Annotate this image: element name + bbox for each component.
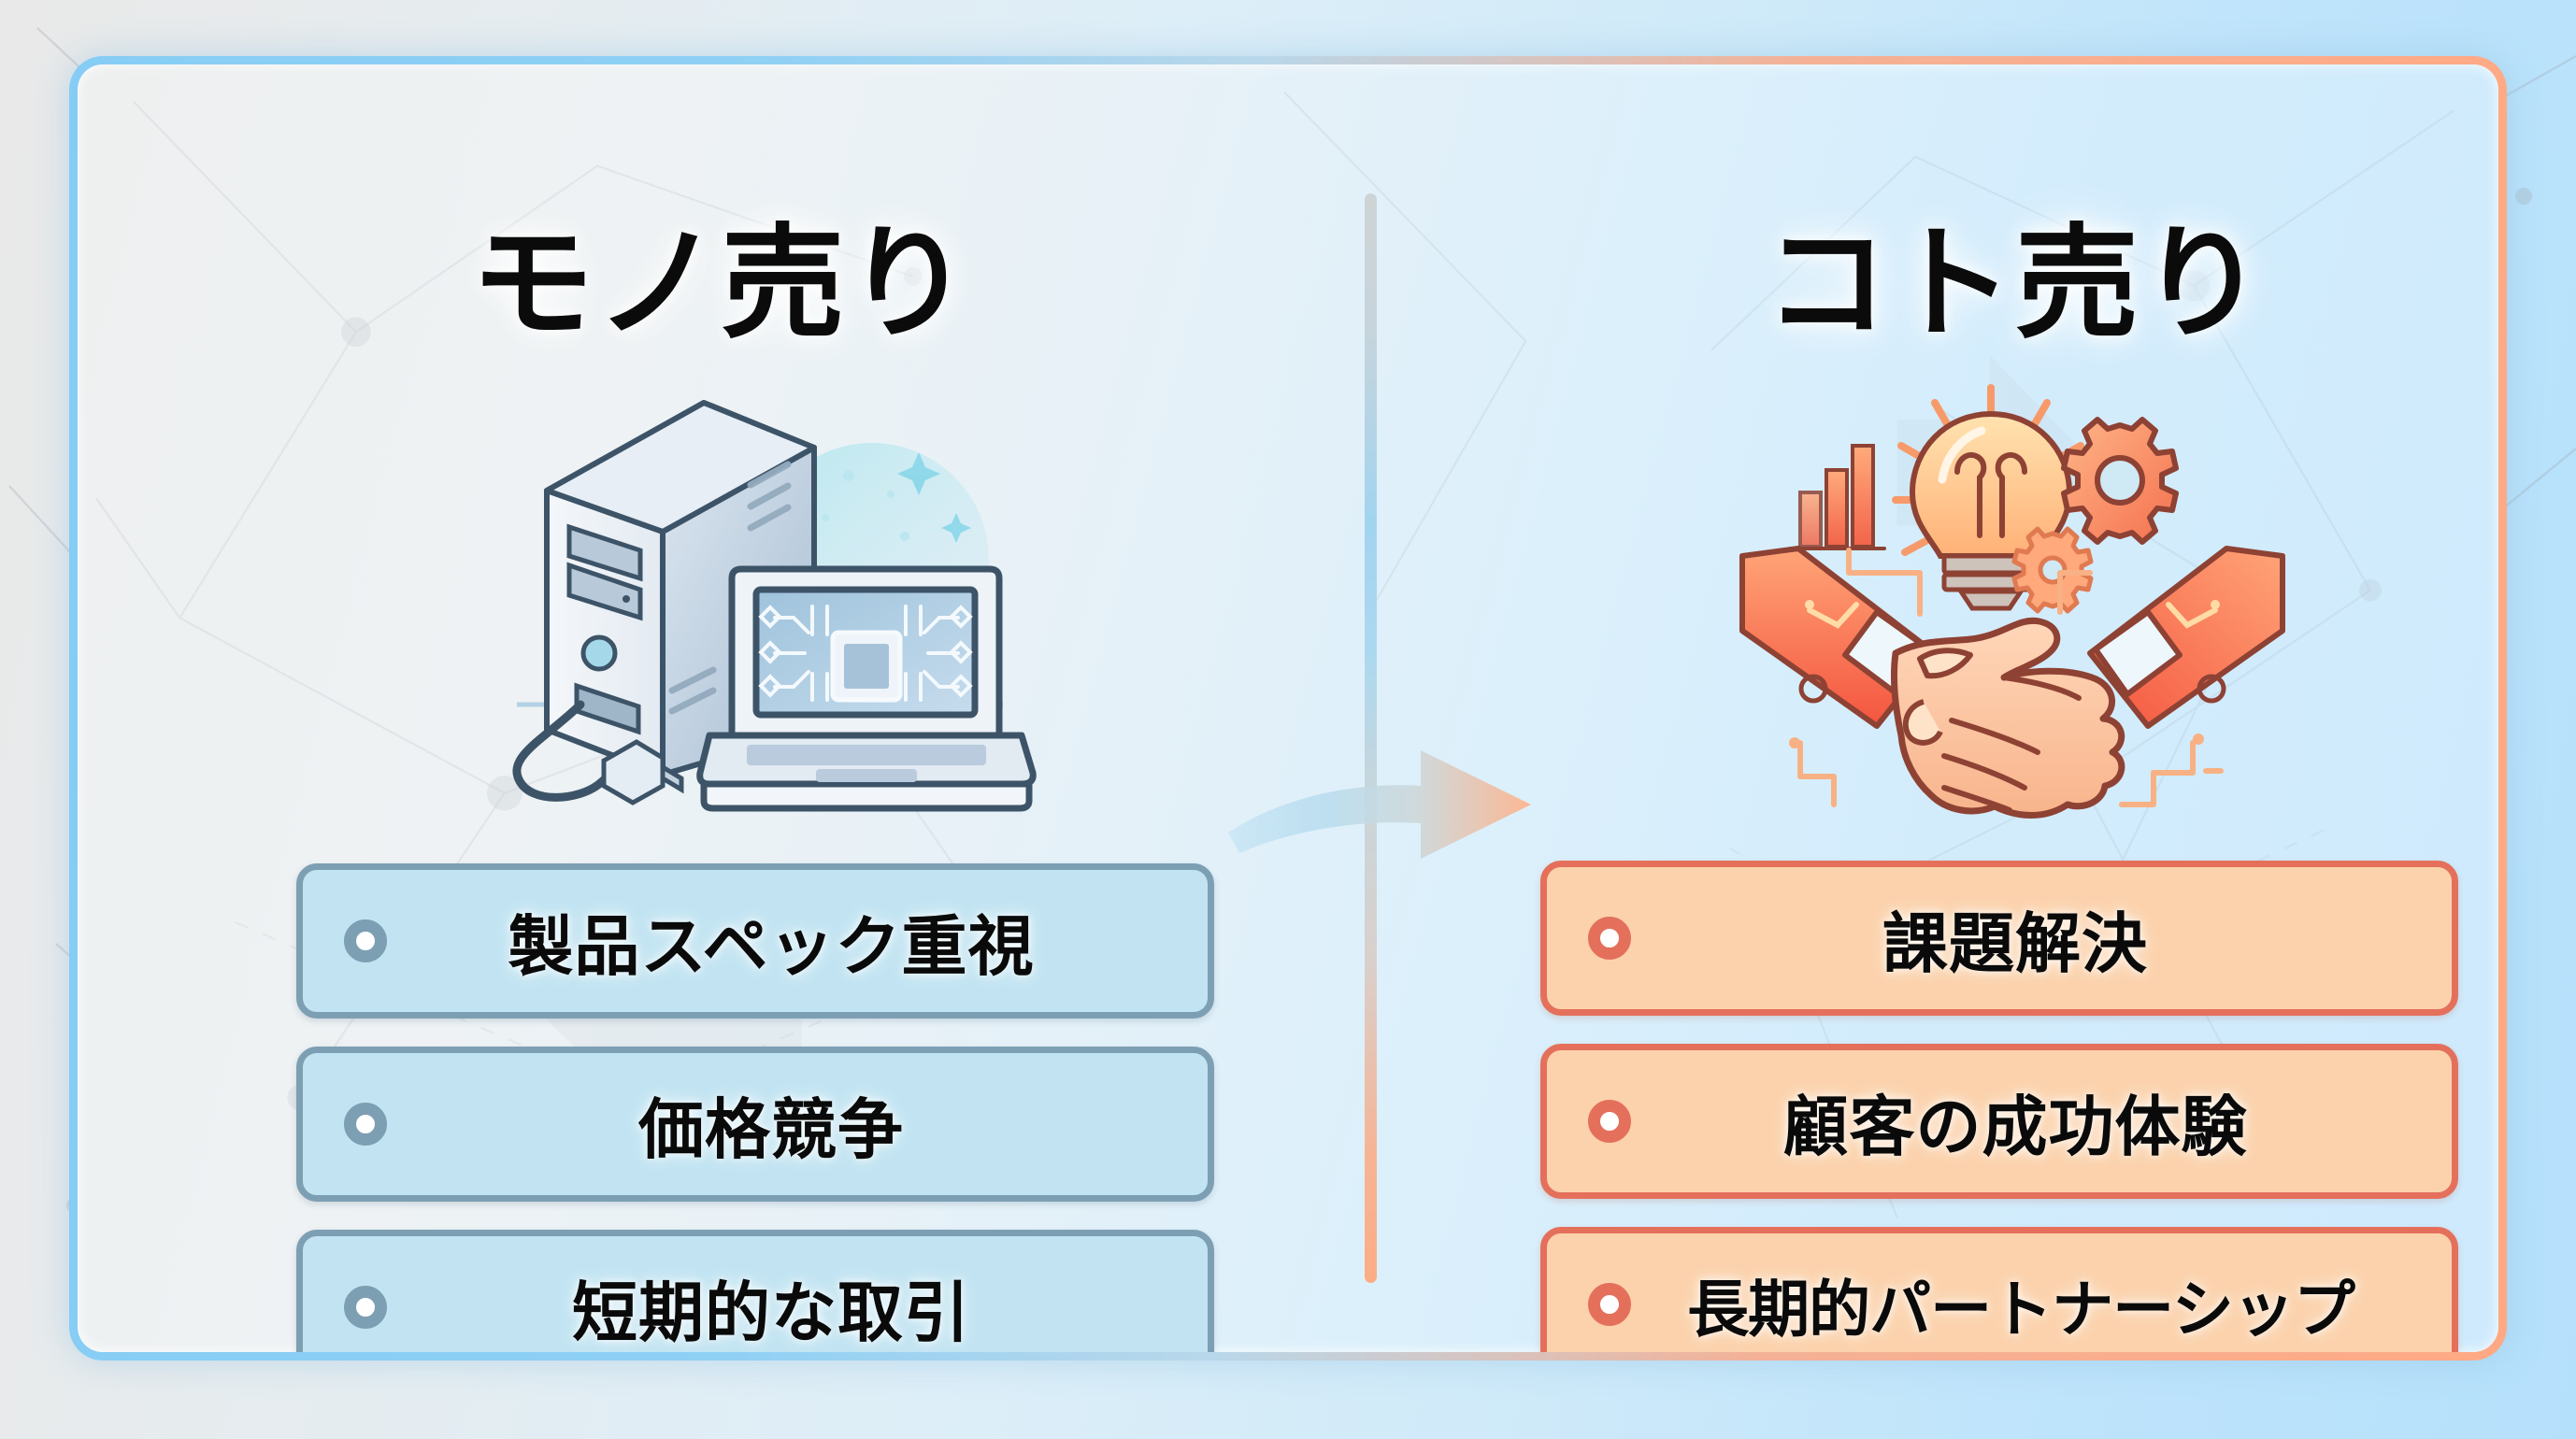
- list-item-label: 製品スペック重視: [476, 894, 1034, 989]
- list-item[interactable]: 製品スペック重視: [296, 863, 1214, 1019]
- list-item[interactable]: 価格競争: [296, 1047, 1214, 1202]
- right-feature-list: 課題解決 顧客の成功体験 長期的パートナーシップ: [1540, 861, 2458, 1361]
- list-item-label: 課題解決: [1851, 891, 2148, 986]
- bullet-icon: [344, 919, 387, 962]
- list-item[interactable]: 長期的パートナーシップ: [1540, 1227, 2458, 1361]
- left-feature-list: 製品スペック重視 価格競争 短期的な取引: [296, 863, 1214, 1361]
- infographic-canvas: モノ売り コト売り: [0, 0, 2576, 1439]
- list-item-label: 短期的な取引: [540, 1261, 970, 1355]
- bullet-icon: [344, 1286, 387, 1329]
- right-column-title: コト売り: [1377, 184, 2507, 363]
- bullet-icon: [344, 1103, 387, 1146]
- left-column-title: モノ売り: [78, 184, 1365, 363]
- list-item-label: 顧客の成功体験: [1752, 1075, 2248, 1169]
- bullet-icon: [1588, 917, 1631, 960]
- list-item[interactable]: 短期的な取引: [296, 1230, 1214, 1361]
- handshake-lightbulb-gears-chart-icon: [1737, 373, 2288, 831]
- desktop-computer-and-laptop-icon: [479, 382, 1040, 821]
- list-item-label: 長期的パートナーシップ: [1644, 1260, 2354, 1349]
- content-frame: モノ売り コト売り: [69, 56, 2507, 1361]
- list-item-label: 価格競争: [607, 1077, 904, 1172]
- bullet-icon: [1588, 1100, 1631, 1143]
- list-item[interactable]: 顧客の成功体験: [1540, 1044, 2458, 1199]
- list-item[interactable]: 課題解決: [1540, 861, 2458, 1016]
- bullet-icon: [1588, 1283, 1631, 1326]
